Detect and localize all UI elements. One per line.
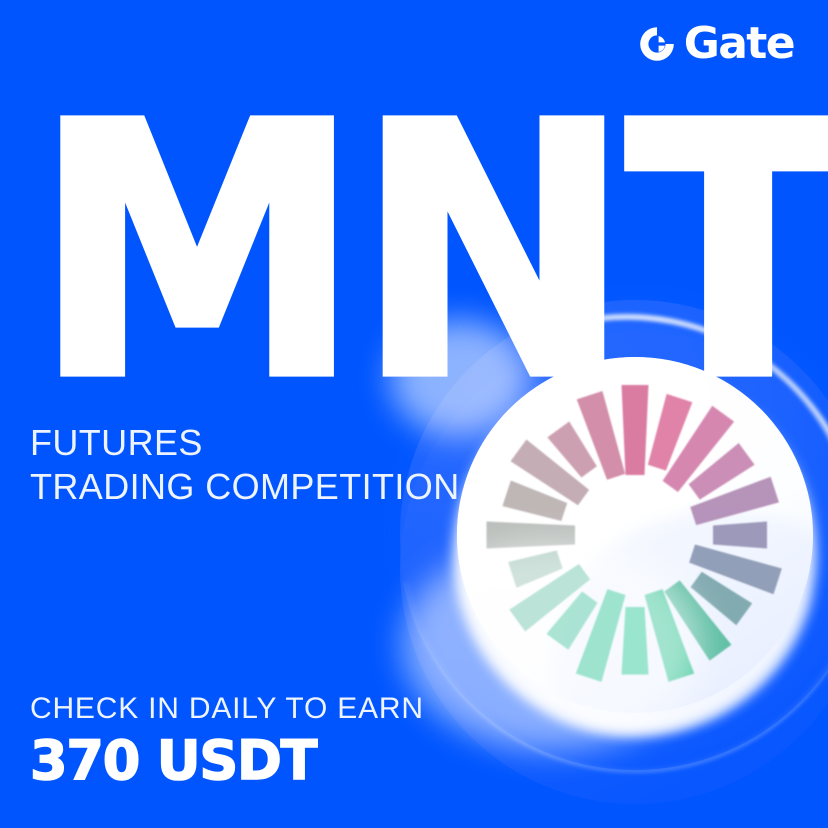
bottom-copy: CHECK IN DAILY TO EARN 370 USDT <box>30 690 424 790</box>
brand-wordmark: Gate <box>684 22 794 66</box>
token-emblem-blade <box>690 477 779 525</box>
token-emblem-blade <box>689 545 782 595</box>
subtitle-line-1: FUTURES <box>30 421 460 465</box>
promo-banner: MNT FUTURES TRADING COMPETITION CHECK IN… <box>0 0 828 828</box>
token-emblem-blade <box>576 589 626 682</box>
brand-logo[interactable]: Gate <box>637 22 794 66</box>
token-emblem-blade <box>487 522 576 549</box>
token-emblem-blade <box>509 564 590 631</box>
token-emblem-blade <box>691 572 753 626</box>
checkin-cta-text: CHECK IN DAILY TO EARN <box>30 690 424 728</box>
subtitle: FUTURES TRADING COMPETITION <box>30 421 460 509</box>
token-emblem-blade <box>622 607 649 675</box>
token-emblem-blade <box>713 522 767 549</box>
token-emblem-blade <box>502 480 567 521</box>
token-emblem-blade <box>508 550 562 587</box>
token-emblem-blade <box>645 589 695 682</box>
gate-circle-mark-icon <box>637 24 677 64</box>
page-title: MNT <box>33 82 828 425</box>
token-emblem-blade <box>664 580 731 660</box>
subtitle-line-2: TRADING COMPETITION <box>30 465 460 509</box>
prize-amount: 370 USDT <box>30 733 424 790</box>
token-emblem-blade <box>546 592 597 650</box>
